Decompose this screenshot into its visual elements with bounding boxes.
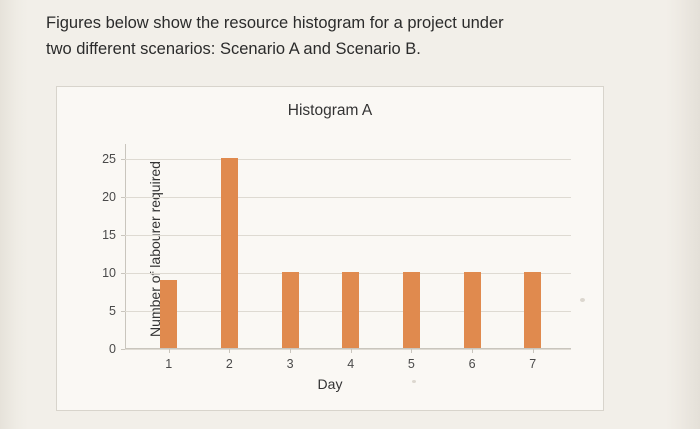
x-axis-tick-mark — [472, 349, 473, 353]
x-axis-tick-label: 5 — [408, 357, 415, 371]
y-axis-tick-label: 0 — [109, 342, 116, 356]
x-axis-tick-label: 4 — [347, 357, 354, 371]
y-axis-tick-label: 5 — [109, 304, 116, 318]
x-axis-tick-label: 7 — [529, 357, 536, 371]
scan-edge-right — [666, 0, 700, 429]
question-text: Figures below show the resource histogra… — [46, 10, 646, 62]
question-text-line-1: Figures below show the resource histogra… — [46, 10, 646, 36]
x-axis-tick-mark — [351, 349, 352, 353]
bar — [221, 158, 238, 348]
y-axis-tick-label: 15 — [102, 228, 116, 242]
scan-edge-left — [0, 0, 28, 429]
y-axis-tick-mark — [121, 159, 125, 160]
page: Figures below show the resource histogra… — [0, 0, 700, 429]
bar — [160, 280, 177, 348]
x-axis-tick-mark — [169, 349, 170, 353]
bar — [524, 272, 541, 348]
question-text-line-2: two different scenarios: Scenario A and … — [46, 36, 646, 62]
histogram-a-figure: Histogram A Number of labourer required … — [56, 86, 604, 411]
x-axis-label: Day — [57, 376, 603, 392]
scan-speck — [580, 298, 585, 302]
y-axis-tick-label: 10 — [102, 266, 116, 280]
plot-area: 05101520251234567 — [125, 144, 571, 349]
gridline — [125, 235, 571, 236]
bar — [282, 272, 299, 348]
scan-speck — [412, 380, 416, 383]
gridline — [125, 159, 571, 160]
y-axis-tick-mark — [121, 273, 125, 274]
y-axis-tick-mark — [121, 311, 125, 312]
x-axis-tick-mark — [411, 349, 412, 353]
y-axis-tick-label: 20 — [102, 190, 116, 204]
y-axis-tick-mark — [121, 235, 125, 236]
x-axis-tick-label: 2 — [226, 357, 233, 371]
y-axis-line — [125, 144, 126, 349]
y-axis-tick-mark — [121, 197, 125, 198]
gridline — [125, 197, 571, 198]
x-axis-tick-mark — [290, 349, 291, 353]
x-axis-tick-label: 3 — [287, 357, 294, 371]
bar — [342, 272, 359, 348]
x-axis-tick-label: 1 — [165, 357, 172, 371]
y-axis-tick-label: 25 — [102, 152, 116, 166]
x-axis-tick-label: 6 — [469, 357, 476, 371]
y-axis-tick-mark — [121, 349, 125, 350]
gridline — [125, 349, 571, 350]
bar — [464, 272, 481, 348]
x-axis-tick-mark — [533, 349, 534, 353]
x-axis-tick-mark — [229, 349, 230, 353]
chart-title: Histogram A — [57, 102, 603, 120]
bar — [403, 272, 420, 348]
